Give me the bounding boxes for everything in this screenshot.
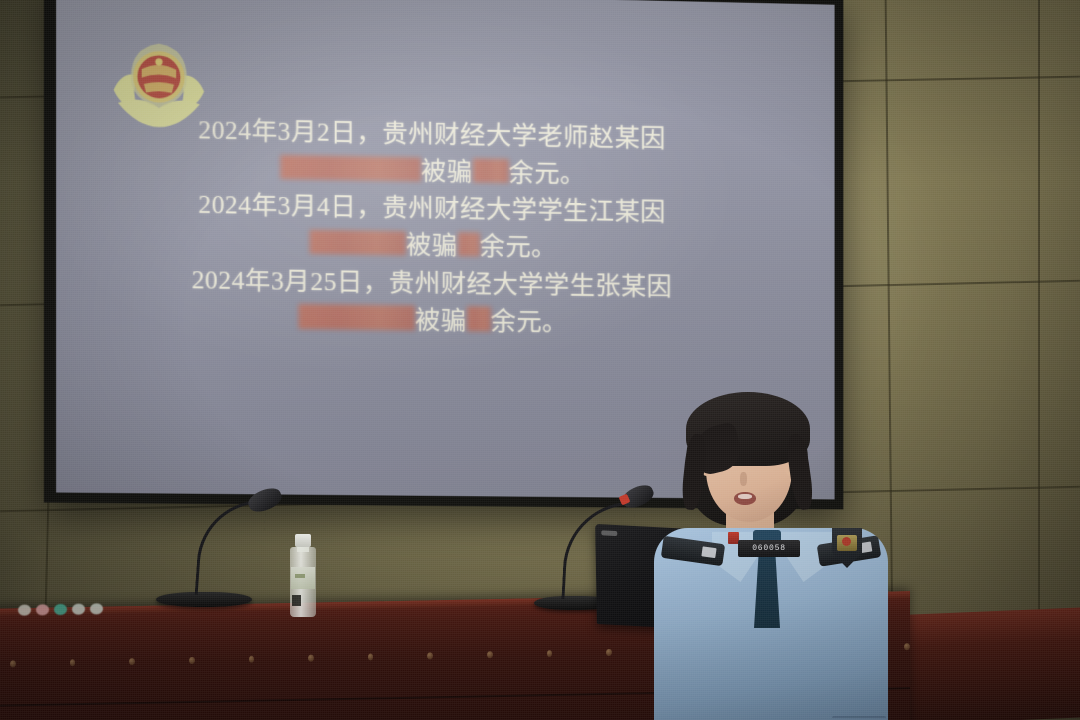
laptop-hinge	[601, 530, 617, 536]
bottle-cap	[295, 534, 311, 547]
slide-text-segment: 被骗	[415, 305, 467, 335]
slide-line-case-2-amount: 被骗余元。	[176, 225, 687, 266]
nose	[740, 472, 747, 486]
water-bottle	[288, 531, 318, 617]
slide-line-case-1-amount: 被骗余元。	[176, 150, 687, 192]
redacted-amount	[298, 304, 414, 330]
slide-line-case-3: 2024年3月25日，贵州财经大学学生张某因	[176, 262, 687, 303]
podium-control-buttons[interactable]	[18, 603, 103, 615]
chest-pocket	[832, 716, 886, 720]
redacted-amount	[473, 158, 509, 183]
redacted-amount	[458, 232, 480, 257]
slide-text-segment: 余元。	[479, 232, 556, 262]
slide-text-segment: 2024年3月25日，贵州财经大学学生张某因	[192, 265, 673, 301]
slide-text-segment: 2024年3月4日，贵州财经大学学生江某因	[198, 190, 665, 227]
bottle-label-dark-block	[292, 595, 301, 606]
slide-line-case-3-amount: 被骗余元。	[176, 300, 687, 340]
podium-button-1[interactable]	[18, 605, 31, 616]
slide-line-case-1: 2024年3月2日，贵州财经大学老师赵某因	[176, 113, 687, 156]
slide-text-segment: 余元。	[490, 306, 567, 336]
mouth	[734, 492, 756, 505]
slide-text-segment: 余元。	[508, 158, 585, 188]
redacted-amount	[309, 230, 405, 256]
redacted-amount	[280, 155, 421, 182]
slide-line-case-2: 2024年3月4日，贵州财经大学学生江某因	[176, 188, 687, 230]
lecture-hall-photo: 2024年3月2日，贵州财经大学老师赵某因被骗余元。2024年3月4日，贵州财经…	[0, 0, 1080, 720]
slide-text-segment: 2024年3月2日，贵州财经大学老师赵某因	[198, 115, 665, 153]
podium-button-3[interactable]	[54, 604, 67, 615]
podium-button-5[interactable]	[90, 603, 103, 614]
name-badge: 060058	[738, 540, 800, 557]
podium-button-2[interactable]	[36, 604, 49, 615]
redacted-amount	[467, 307, 491, 332]
podium-button-4[interactable]	[72, 604, 85, 615]
wall-seam-v3	[1038, 0, 1040, 640]
slide-text: 2024年3月2日，贵州财经大学老师赵某因被骗余元。2024年3月4日，贵州财经…	[176, 113, 687, 344]
slide-text-segment: 被骗	[421, 157, 473, 187]
bottle-label	[291, 567, 315, 589]
slide-text-segment: 被骗	[406, 231, 458, 261]
police-officer-speaker: 060058	[640, 388, 910, 720]
